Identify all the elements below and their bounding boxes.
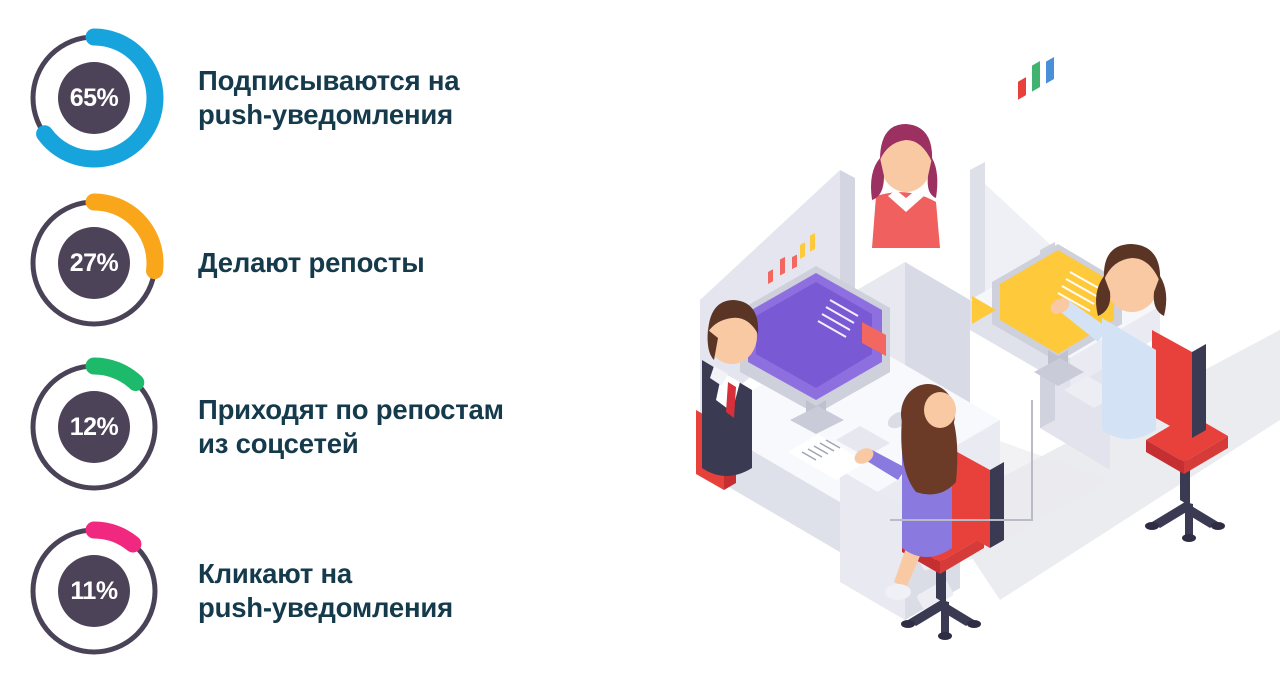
stat-label-1: Делают репосты — [198, 246, 424, 280]
infographic-root: 65% Подписываются на push-уведомления 27… — [0, 0, 1280, 687]
stat-label-3: Кликают на push-уведомления — [198, 557, 453, 624]
isometric-office-cubicles-illustration — [640, 0, 1280, 687]
stat-item-1[interactable]: 27% Делают репосты — [18, 183, 424, 343]
donut-chart-icon-2: 12% — [18, 351, 170, 503]
stat-item-0[interactable]: 65% Подписываются на push-уведомления — [18, 18, 459, 178]
donut-chart-icon-3: 11% — [18, 515, 170, 667]
donut-chart-icon-1: 27% — [18, 187, 170, 339]
stats-list: 65% Подписываются на push-уведомления 27… — [0, 0, 640, 687]
stat-label-2: Приходят по репостам из соцсетей — [198, 393, 504, 460]
person-woman-back-center — [871, 124, 940, 248]
stat-item-2[interactable]: 12% Приходят по репостам из соцсетей — [18, 347, 504, 507]
donut-chart-icon-0: 65% — [18, 22, 170, 174]
stat-item-3[interactable]: 11% Кликают на push-уведомления — [18, 511, 453, 671]
stat-label-0: Подписываются на push-уведомления — [198, 64, 459, 131]
